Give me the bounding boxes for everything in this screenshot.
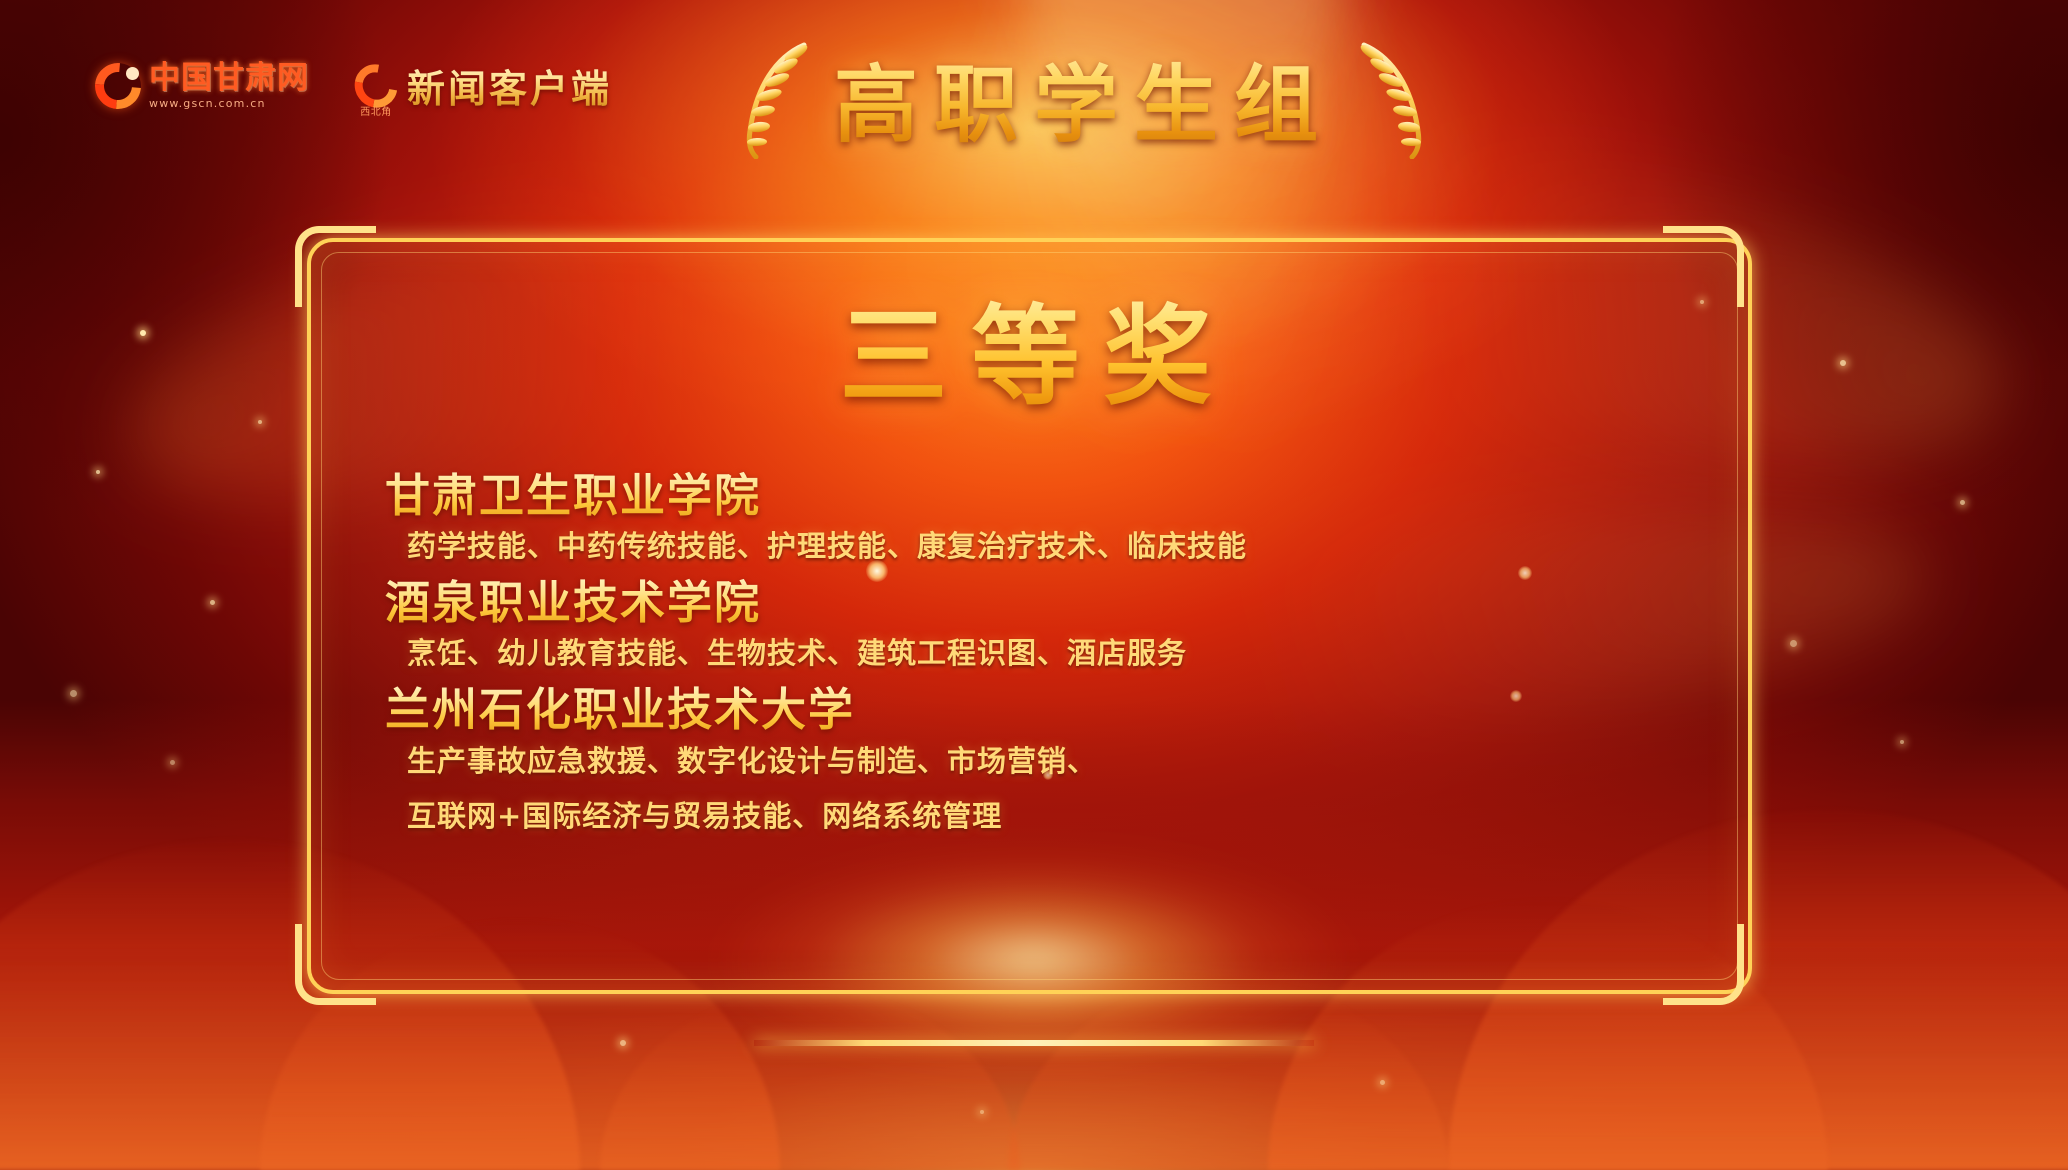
site-logo-name: 中国甘肃网: [149, 63, 309, 94]
gscn-swoosh-icon: [95, 63, 141, 109]
award-title: 三等奖: [307, 270, 1744, 426]
app-swoosh-icon: 西北角: [355, 64, 397, 108]
site-logo-url: www.gscn.com.cn: [149, 98, 309, 109]
list-item: 酒泉职业技术学院 烹饪、幼儿教育技能、生物技术、建筑工程识图、酒店服务: [385, 575, 1684, 676]
list-item: 兰州石化职业技术大学 生产事故应急救援、数字化设计与制造、市场营销、 互联网+国…: [385, 682, 1684, 838]
light-glint: [866, 560, 888, 582]
school-majors: 烹饪、幼儿教育技能、生物技术、建筑工程识图、酒店服务: [385, 631, 1684, 676]
app-logo[interactable]: 西北角 新闻客户端: [355, 58, 612, 113]
school-majors: 生产事故应急救援、数字化设计与制造、市场营销、: [385, 739, 1684, 784]
header-logos: 中国甘肃网 www.gscn.com.cn 西北角 新闻客户端: [95, 58, 612, 113]
school-name: 兰州石化职业技术大学: [385, 682, 1684, 738]
light-glint: [1518, 566, 1532, 580]
school-majors: 互联网+国际经济与贸易技能、网络系统管理: [385, 794, 1684, 839]
light-glint: [1043, 770, 1053, 780]
panel-base-bar: [754, 1040, 1314, 1046]
site-logo[interactable]: 中国甘肃网 www.gscn.com.cn: [95, 63, 309, 109]
app-mark-sub: 西北角: [355, 103, 397, 118]
school-name: 酒泉职业技术学院: [385, 575, 1684, 631]
winner-list: 甘肃卫生职业学院 药学技能、中药传统技能、护理技能、康复治疗技术、临床技能 酒泉…: [385, 468, 1684, 845]
page-title: 高职学生组: [828, 38, 1340, 159]
award-panel-content: 三等奖 甘肃卫生职业学院 药学技能、中药传统技能、护理技能、康复治疗技术、临床技…: [307, 238, 1744, 986]
list-item: 甘肃卫生职业学院 药学技能、中药传统技能、护理技能、康复治疗技术、临床技能: [385, 468, 1684, 569]
app-logo-name: 新闻客户端: [407, 58, 612, 113]
light-glint: [1510, 690, 1522, 702]
award-ceremony-slide: 中国甘肃网 www.gscn.com.cn 西北角 新闻客户端: [0, 0, 2068, 1170]
wheat-ear-icon: [734, 39, 812, 159]
school-majors: 药学技能、中药传统技能、护理技能、康复治疗技术、临床技能: [385, 524, 1684, 569]
school-name: 甘肃卫生职业学院: [385, 468, 1684, 524]
wheat-ear-icon: [1356, 39, 1434, 159]
